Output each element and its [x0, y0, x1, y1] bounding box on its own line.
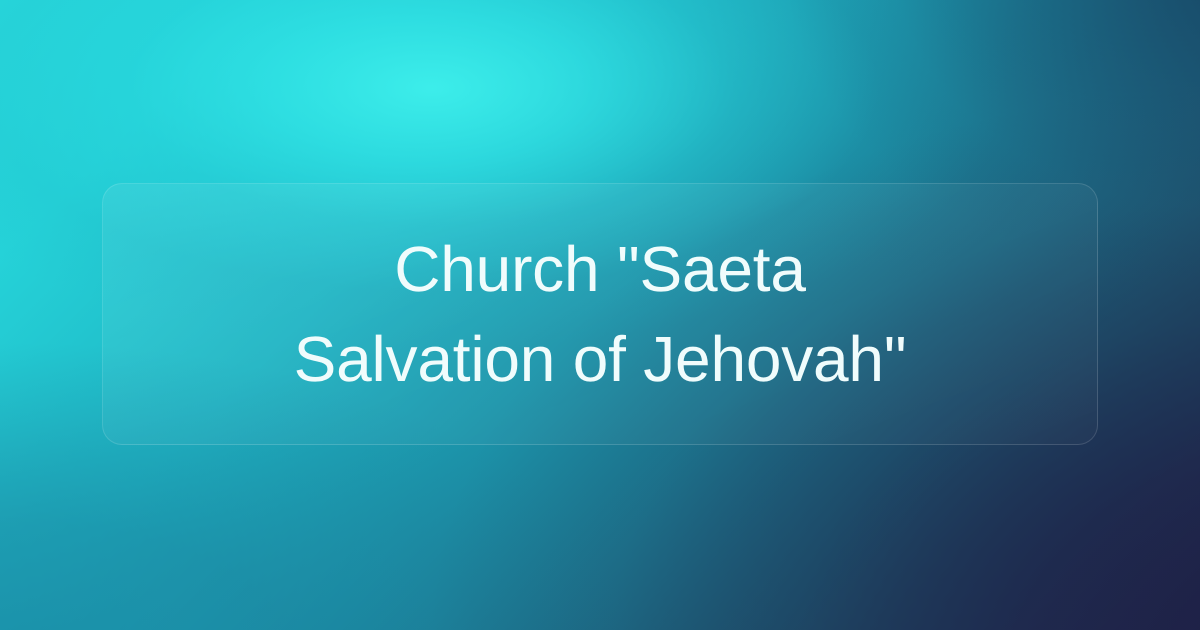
page-title: Church "Saeta Salvation of Jehovah" — [103, 224, 1097, 404]
social-preview-card-canvas: Church "Saeta Salvation of Jehovah" — [0, 0, 1200, 630]
title-card: Church "Saeta Salvation of Jehovah" — [102, 183, 1098, 445]
